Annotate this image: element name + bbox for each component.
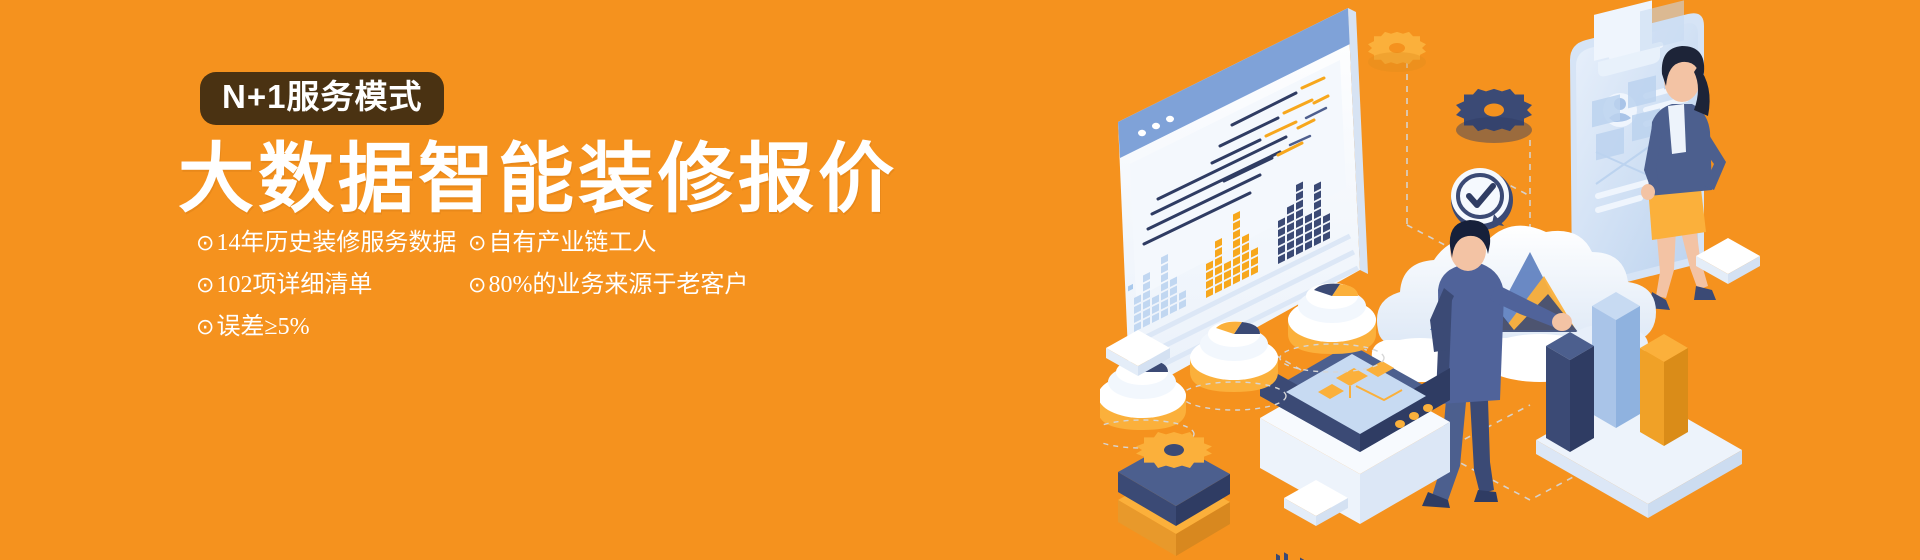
list-item-label: 102项详细清单: [216, 264, 372, 306]
gear-orange: [1368, 32, 1426, 72]
bullet-dot-icon: ⊙: [468, 275, 486, 297]
list-item-label: 误差≥5%: [216, 306, 309, 348]
list-item-label: 14年历史装修服务数据: [216, 222, 456, 264]
feature-list: ⊙ 14年历史装修服务数据 ⊙ 102项详细清单 ⊙ 误差≥5% ⊙ 自有产业链…: [196, 222, 718, 348]
banner-copy: N+1服务模式 大数据智能装修报价: [178, 72, 938, 222]
list-item-label: 自有产业链工人: [488, 222, 656, 264]
list-item: ⊙ 80%的业务来源于老客户: [468, 264, 718, 306]
list-item: ⊙ 102项详细清单: [196, 264, 446, 306]
floating-tile: [1696, 238, 1760, 284]
server-mini-chart: [1276, 552, 1312, 560]
gear-platform: [1118, 432, 1230, 556]
list-item: ⊙ 14年历史装修服务数据: [196, 222, 446, 264]
bullet-dot-icon: ⊙: [468, 233, 486, 255]
bullet-dot-icon: ⊙: [196, 233, 214, 255]
list-item: ⊙ 误差≥5%: [196, 306, 446, 348]
service-model-badge: N+1服务模式: [200, 72, 444, 125]
list-item-label: 80%的业务来源于老客户: [488, 264, 748, 306]
promo-banner: N+1服务模式 大数据智能装修报价 ⊙ 14年历史装修服务数据 ⊙ 102项详细…: [0, 0, 1920, 560]
check-badge-icon: [1451, 168, 1513, 230]
isometric-illustration: [1100, 0, 1920, 560]
bullet-dot-icon: ⊙: [196, 317, 214, 339]
page-title: 大数据智能装修报价: [178, 137, 938, 222]
bullet-dot-icon: ⊙: [196, 275, 214, 297]
feature-list-right: ⊙ 自有产业链工人 ⊙ 80%的业务来源于老客户: [468, 222, 718, 348]
list-item: ⊙ 自有产业链工人: [468, 222, 718, 264]
gear-navy: [1456, 89, 1532, 143]
feature-list-left: ⊙ 14年历史装修服务数据 ⊙ 102项详细清单 ⊙ 误差≥5%: [196, 222, 446, 348]
